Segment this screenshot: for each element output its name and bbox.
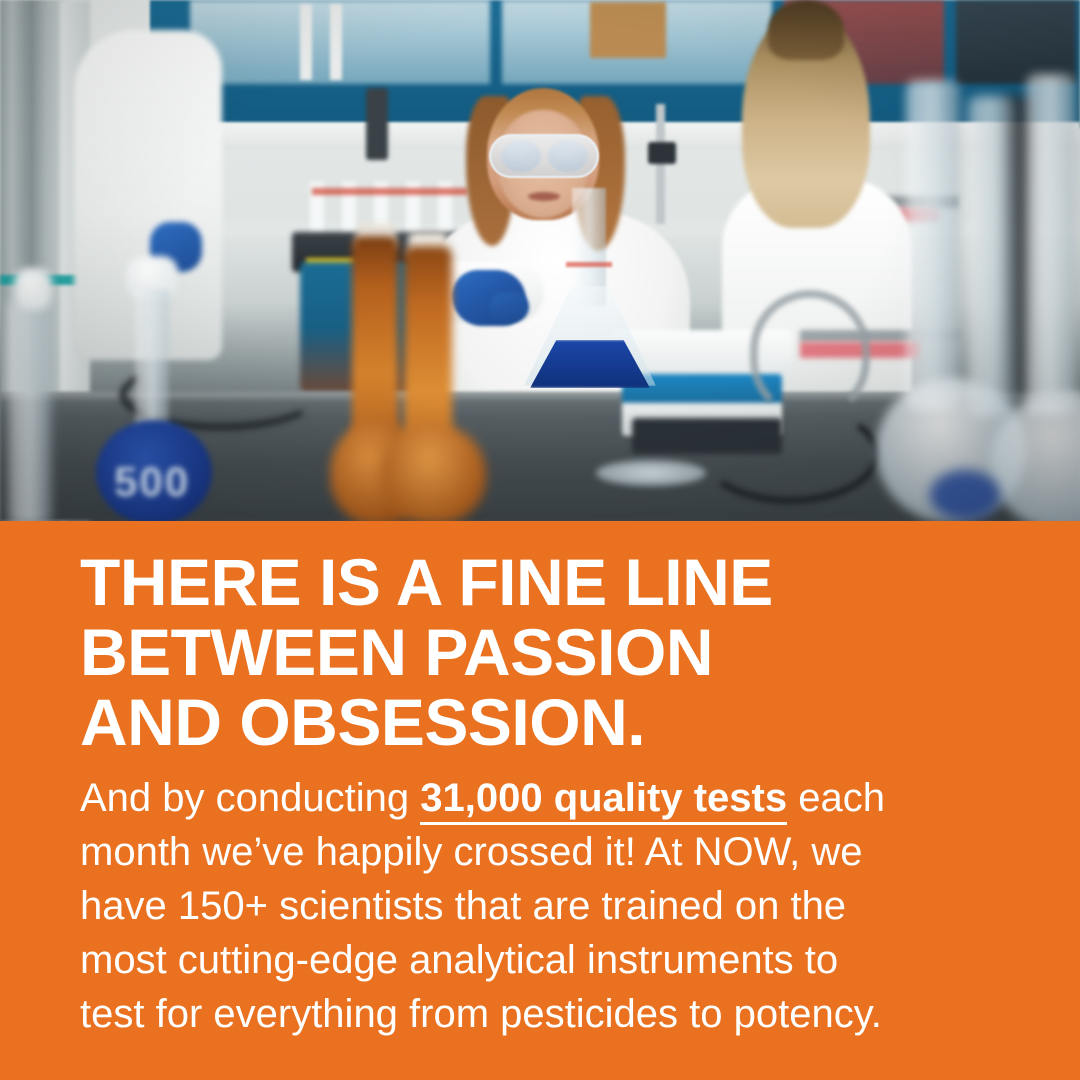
headline-line-1: THERE IS A FINE LINE — [80, 547, 1020, 617]
body-copy: And by conducting 31,000 quality tests e… — [80, 771, 1030, 1041]
body-text-segment: each — [787, 776, 885, 820]
body-text-segment: And by conducting — [80, 776, 420, 820]
stat-highlight-quality-tests: 31,000 quality tests — [420, 776, 787, 825]
body-line-2: month we’ve happily crossed it! At NOW, … — [80, 825, 1030, 879]
headline: THERE IS A FINE LINE BETWEEN PASSION AND… — [80, 547, 1020, 757]
photo-vignette — [0, 0, 1080, 521]
marketing-poster: 500 THERE IS A FINE LINE BETWEEN PASSION… — [0, 0, 1080, 1080]
headline-line-3: AND OBSESSION. — [80, 687, 1020, 757]
body-line-5: test for everything from pesticides to p… — [80, 987, 1030, 1041]
body-line-4: most cutting-edge analytical instruments… — [80, 933, 1030, 987]
body-line-1: And by conducting 31,000 quality tests e… — [80, 771, 1030, 825]
body-line-3: have 150+ scientists that are trained on… — [80, 879, 1030, 933]
lab-photograph: 500 — [0, 0, 1080, 521]
headline-line-2: BETWEEN PASSION — [80, 617, 1020, 687]
